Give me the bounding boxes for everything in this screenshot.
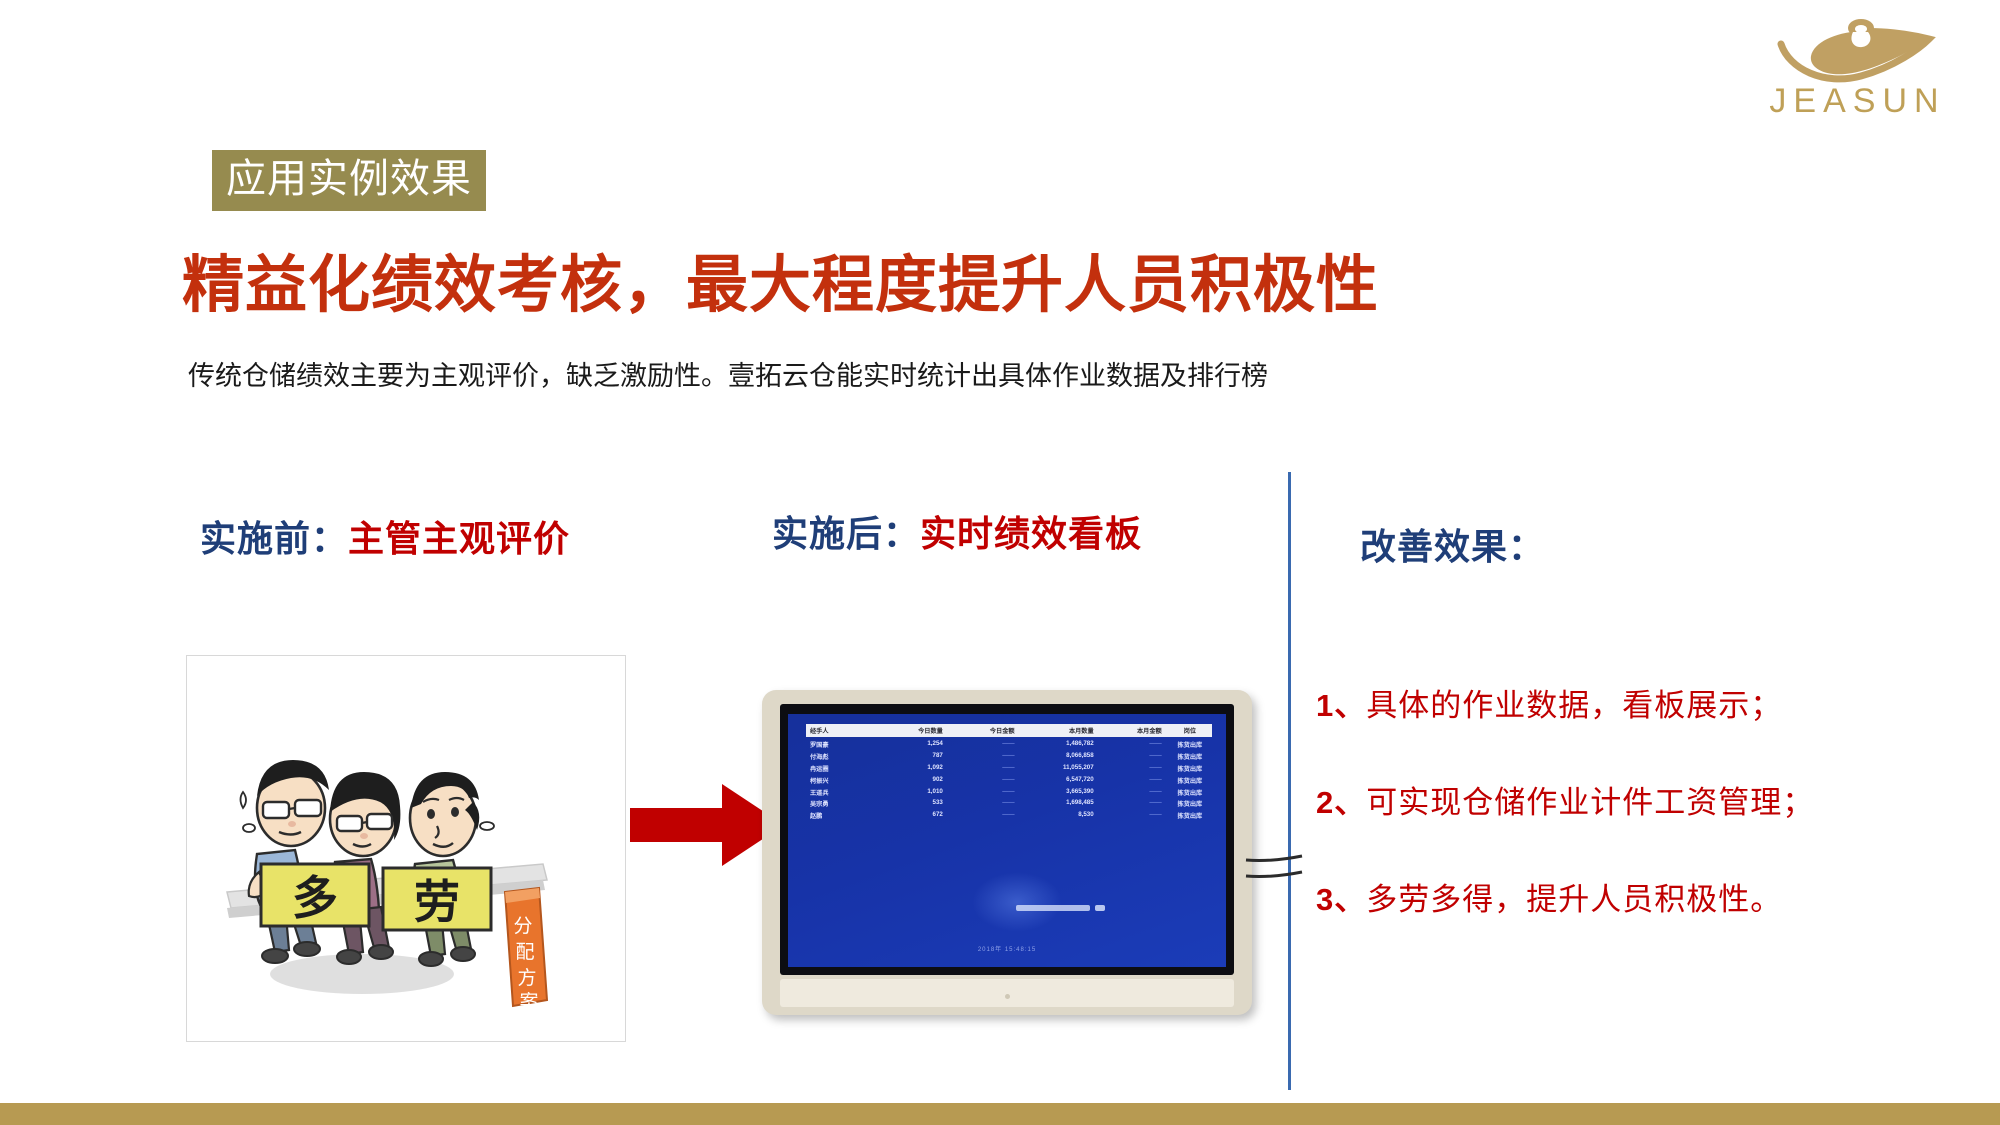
table-cell: ——: [1103, 776, 1168, 785]
table-cell: ——: [952, 776, 1024, 785]
table-cell: ——: [952, 764, 1024, 773]
column-header-effect-lead: 改善效果：: [1360, 527, 1545, 567]
table-cell: ——: [952, 740, 1024, 749]
list-item: 1、具体的作业数据，看板展示；: [1316, 680, 1936, 725]
banner-char-1: 分: [513, 915, 532, 937]
monitor-cable-icon: [1244, 850, 1304, 892]
banner-char-4: 案: [519, 991, 538, 1013]
table-cell: ——: [1103, 740, 1168, 749]
list-item-label: 多劳多得，提升人员积极性。: [1366, 882, 1782, 917]
dashboard-timestamp: 2018年 15:48:15: [788, 944, 1226, 953]
table-cell: 1,486,782: [1024, 740, 1103, 749]
sign-left-text: 多: [292, 871, 338, 925]
sign-left: 多: [261, 864, 369, 926]
table-cell: 赵鹏: [806, 811, 880, 820]
monitor-stand: [780, 979, 1234, 1007]
table-row: 王道兵1,010——3,665,390——拣货出库: [806, 786, 1212, 798]
table-cell: 8,066,858: [1024, 752, 1103, 761]
table-cell: 6,547,720: [1024, 776, 1103, 785]
table-cell: 拣货出库: [1168, 811, 1212, 820]
table-cell: 拣货出库: [1168, 740, 1212, 749]
monitor-power-led: [1005, 994, 1010, 999]
table-cell: 1,254: [880, 740, 952, 749]
table-cell: 冉运圈: [806, 764, 880, 773]
list-item-label: 具体的作业数据，看板展示；: [1366, 688, 1782, 723]
screen-highlight-dot: [1095, 905, 1105, 911]
th-position: 岗位: [1168, 726, 1212, 735]
table-cell: ——: [1103, 799, 1168, 808]
screen-glow: [972, 872, 1062, 932]
table-cell: 柯振兴: [806, 776, 880, 785]
column-header-after-highlight: 实时绩效看板: [920, 514, 1142, 554]
banner-char-3: 方: [517, 967, 536, 989]
table-cell: ——: [952, 788, 1024, 797]
dashboard-table: 经手人 今日数量 今日金额 本月数量 本月金额 岗位 罗国豪1,254——1,4…: [806, 724, 1212, 821]
table-row: 柯振兴902——6,547,720——拣货出库: [806, 774, 1212, 786]
column-header-after-lead: 实施后：: [772, 514, 920, 554]
table-cell: 1,698,485: [1024, 799, 1103, 808]
column-header-before-highlight: 主管主观评价: [348, 519, 570, 559]
table-cell: 787: [880, 752, 952, 761]
table-cell: 吴宗勇: [806, 799, 880, 808]
logo-wordmark: JEASUN: [1744, 82, 1964, 121]
th-today-amt: 今日金额: [952, 726, 1024, 735]
allocation-plan-banner: 分 配 方 案: [505, 888, 547, 1013]
table-cell: ——: [1103, 764, 1168, 773]
table-cell: ——: [952, 811, 1024, 820]
table-row: 赵鹏672——8,530——拣货出库: [806, 810, 1212, 822]
table-cell: 672: [880, 811, 952, 820]
improvement-effect-list: 1、具体的作业数据，看板展示； 2、可实现仓储作业计件工资管理； 3、多劳多得，…: [1316, 680, 1936, 971]
column-header-after: 实施后：实时绩效看板: [772, 505, 1142, 557]
table-row: 冉运圈1,092——11,055,207——拣货出库: [806, 763, 1212, 775]
table-cell: ——: [1103, 811, 1168, 820]
list-item-number: 3、: [1316, 882, 1366, 917]
list-item-number: 1、: [1316, 688, 1366, 723]
before-illustration-card: 多 劳 分 配 方 案: [186, 655, 626, 1042]
brand-logo: JEASUN: [1744, 14, 1964, 124]
table-cell: 533: [880, 799, 952, 808]
table-cell: ——: [1103, 788, 1168, 797]
table-row: 付海彪787——8,066,858——拣货出库: [806, 751, 1212, 763]
table-cell: 拣货出库: [1168, 788, 1212, 797]
table-cell: 拣货出库: [1168, 776, 1212, 785]
section-badge: 应用实例效果: [212, 150, 486, 211]
monitor-screen: 经手人 今日数量 今日金额 本月数量 本月金额 岗位 罗国豪1,254——1,4…: [788, 714, 1226, 967]
table-cell: ——: [1103, 752, 1168, 761]
table-cell: 1,092: [880, 764, 952, 773]
column-header-before: 实施前：主管主观评价: [200, 510, 570, 562]
table-cell: 罗国豪: [806, 740, 880, 749]
table-cell: 3,665,390: [1024, 788, 1103, 797]
table-row: 吴宗勇533——1,698,485——拣货出库: [806, 798, 1212, 810]
column-header-effect: 改善效果：: [1360, 518, 1545, 570]
dashboard-table-header: 经手人 今日数量 今日金额 本月数量 本月金额 岗位: [806, 724, 1212, 737]
table-cell: 付海彪: [806, 752, 880, 761]
column-header-before-lead: 实施前：: [200, 519, 348, 559]
performance-dashboard-monitor: 经手人 今日数量 今日金额 本月数量 本月金额 岗位 罗国豪1,254——1,4…: [762, 690, 1252, 1015]
table-row: 罗国豪1,254——1,486,782——拣货出库: [806, 739, 1212, 751]
sign-right-text: 劳: [414, 875, 460, 929]
table-cell: ——: [952, 752, 1024, 761]
table-cell: 拣货出库: [1168, 799, 1212, 808]
banner-char-2: 配: [515, 941, 534, 963]
monitor-screen-frame: 经手人 今日数量 今日金额 本月数量 本月金额 岗位 罗国豪1,254——1,4…: [780, 704, 1234, 975]
table-cell: ——: [952, 799, 1024, 808]
th-month-qty: 本月数量: [1024, 726, 1103, 735]
th-today-qty: 今日数量: [880, 726, 952, 735]
footer-accent-bar: [0, 1103, 2000, 1125]
sign-right: 劳: [383, 868, 491, 930]
th-handler: 经手人: [806, 726, 880, 735]
table-cell: 拣货出库: [1168, 752, 1212, 761]
workers-holding-signs-illustration: 多 劳 分 配 方 案: [187, 656, 625, 1041]
table-cell: 902: [880, 776, 952, 785]
page-title: 精益化绩效考核，最大程度提升人员积极性: [182, 252, 1379, 320]
dashboard-table-body: 罗国豪1,254——1,486,782——拣货出库付海彪787——8,066,8…: [806, 739, 1212, 821]
table-cell: 1,010: [880, 788, 952, 797]
vertical-divider: [1288, 472, 1291, 1090]
jeasun-swoosh-icon: [1769, 14, 1939, 84]
list-item: 2、可实现仓储作业计件工资管理；: [1316, 777, 1936, 822]
list-item-label: 可实现仓储作业计件工资管理；: [1366, 785, 1814, 820]
table-cell: 拣货出库: [1168, 764, 1212, 773]
screen-highlight-bar: [1016, 905, 1090, 911]
table-cell: 王道兵: [806, 788, 880, 797]
table-cell: 11,055,207: [1024, 764, 1103, 773]
list-item: 3、多劳多得，提升人员积极性。: [1316, 874, 1936, 919]
page-subtitle: 传统仓储绩效主要为主观评价，缺乏激励性。壹拓云仓能实时统计出具体作业数据及排行榜: [188, 358, 1268, 394]
list-item-number: 2、: [1316, 785, 1366, 820]
th-month-amt: 本月金额: [1103, 726, 1168, 735]
table-cell: 8,530: [1024, 811, 1103, 820]
